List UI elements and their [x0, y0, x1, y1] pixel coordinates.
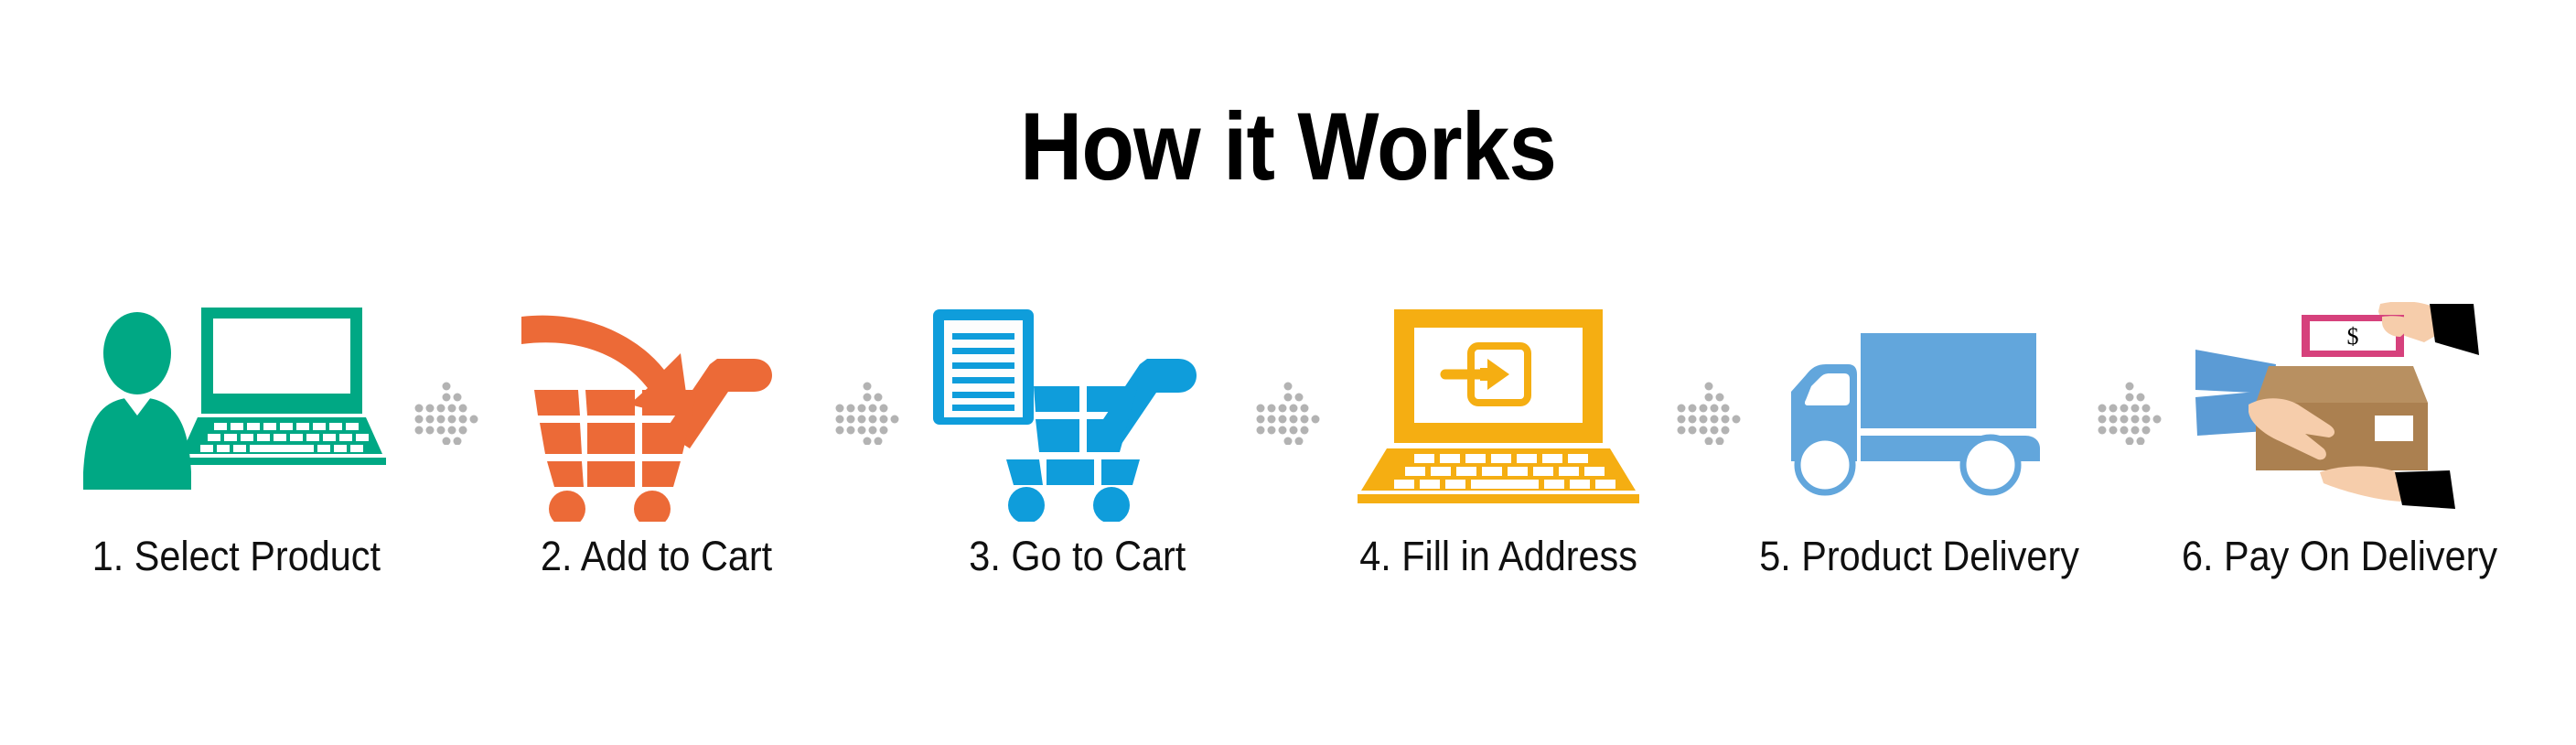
separator-dotted-arrow-3 — [1256, 302, 1320, 668]
step-4-fill-in-address[interactable]: 4. Fill in Address — [1320, 302, 1677, 668]
top-cuff — [2430, 304, 2479, 355]
box-label — [2375, 416, 2413, 441]
step-3-label: 3. Go to Cart — [969, 534, 1186, 578]
step-1-label: 1. Select Product — [91, 534, 380, 578]
shopping-cart-with-arrow-icon — [501, 302, 812, 522]
separator-dotted-arrow-5 — [2098, 302, 2162, 668]
bottom-cuff — [2395, 470, 2455, 509]
step-1-select-product[interactable]: 1. Select Product — [58, 302, 414, 668]
step-5-label: 5. Product Delivery — [1759, 534, 2079, 578]
infographic-root: How it Works — [0, 0, 2576, 745]
person-with-laptop-icon — [80, 302, 392, 522]
box-top — [2256, 366, 2428, 403]
step-3-go-to-cart[interactable]: 3. Go to Cart — [899, 302, 1256, 668]
separator-dotted-arrow-2 — [835, 302, 899, 668]
laptop-with-login-arrow-icon — [1343, 302, 1654, 522]
step-4-label: 4. Fill in Address — [1359, 534, 1637, 578]
page-title: How it Works — [129, 99, 2447, 195]
step-6-label: 6. Pay On Delivery — [2182, 534, 2497, 578]
document-with-cart-icon — [922, 302, 1233, 522]
step-6-pay-on-delivery[interactable]: $ — [2162, 302, 2518, 668]
delivery-truck-icon — [1764, 302, 2075, 522]
steps-row: 1. Select Product — [0, 302, 2576, 668]
separator-dotted-arrow-4 — [1677, 302, 1741, 668]
step-2-add-to-cart[interactable]: 2. Add to Cart — [478, 302, 835, 668]
banknote-symbol: $ — [2347, 323, 2359, 350]
hands-exchanging-box-and-cash-icon: $ — [2184, 302, 2495, 522]
step-5-product-delivery[interactable]: 5. Product Delivery — [1741, 302, 2098, 668]
step-2-label: 2. Add to Cart — [541, 534, 772, 578]
separator-dotted-arrow-1 — [414, 302, 478, 668]
